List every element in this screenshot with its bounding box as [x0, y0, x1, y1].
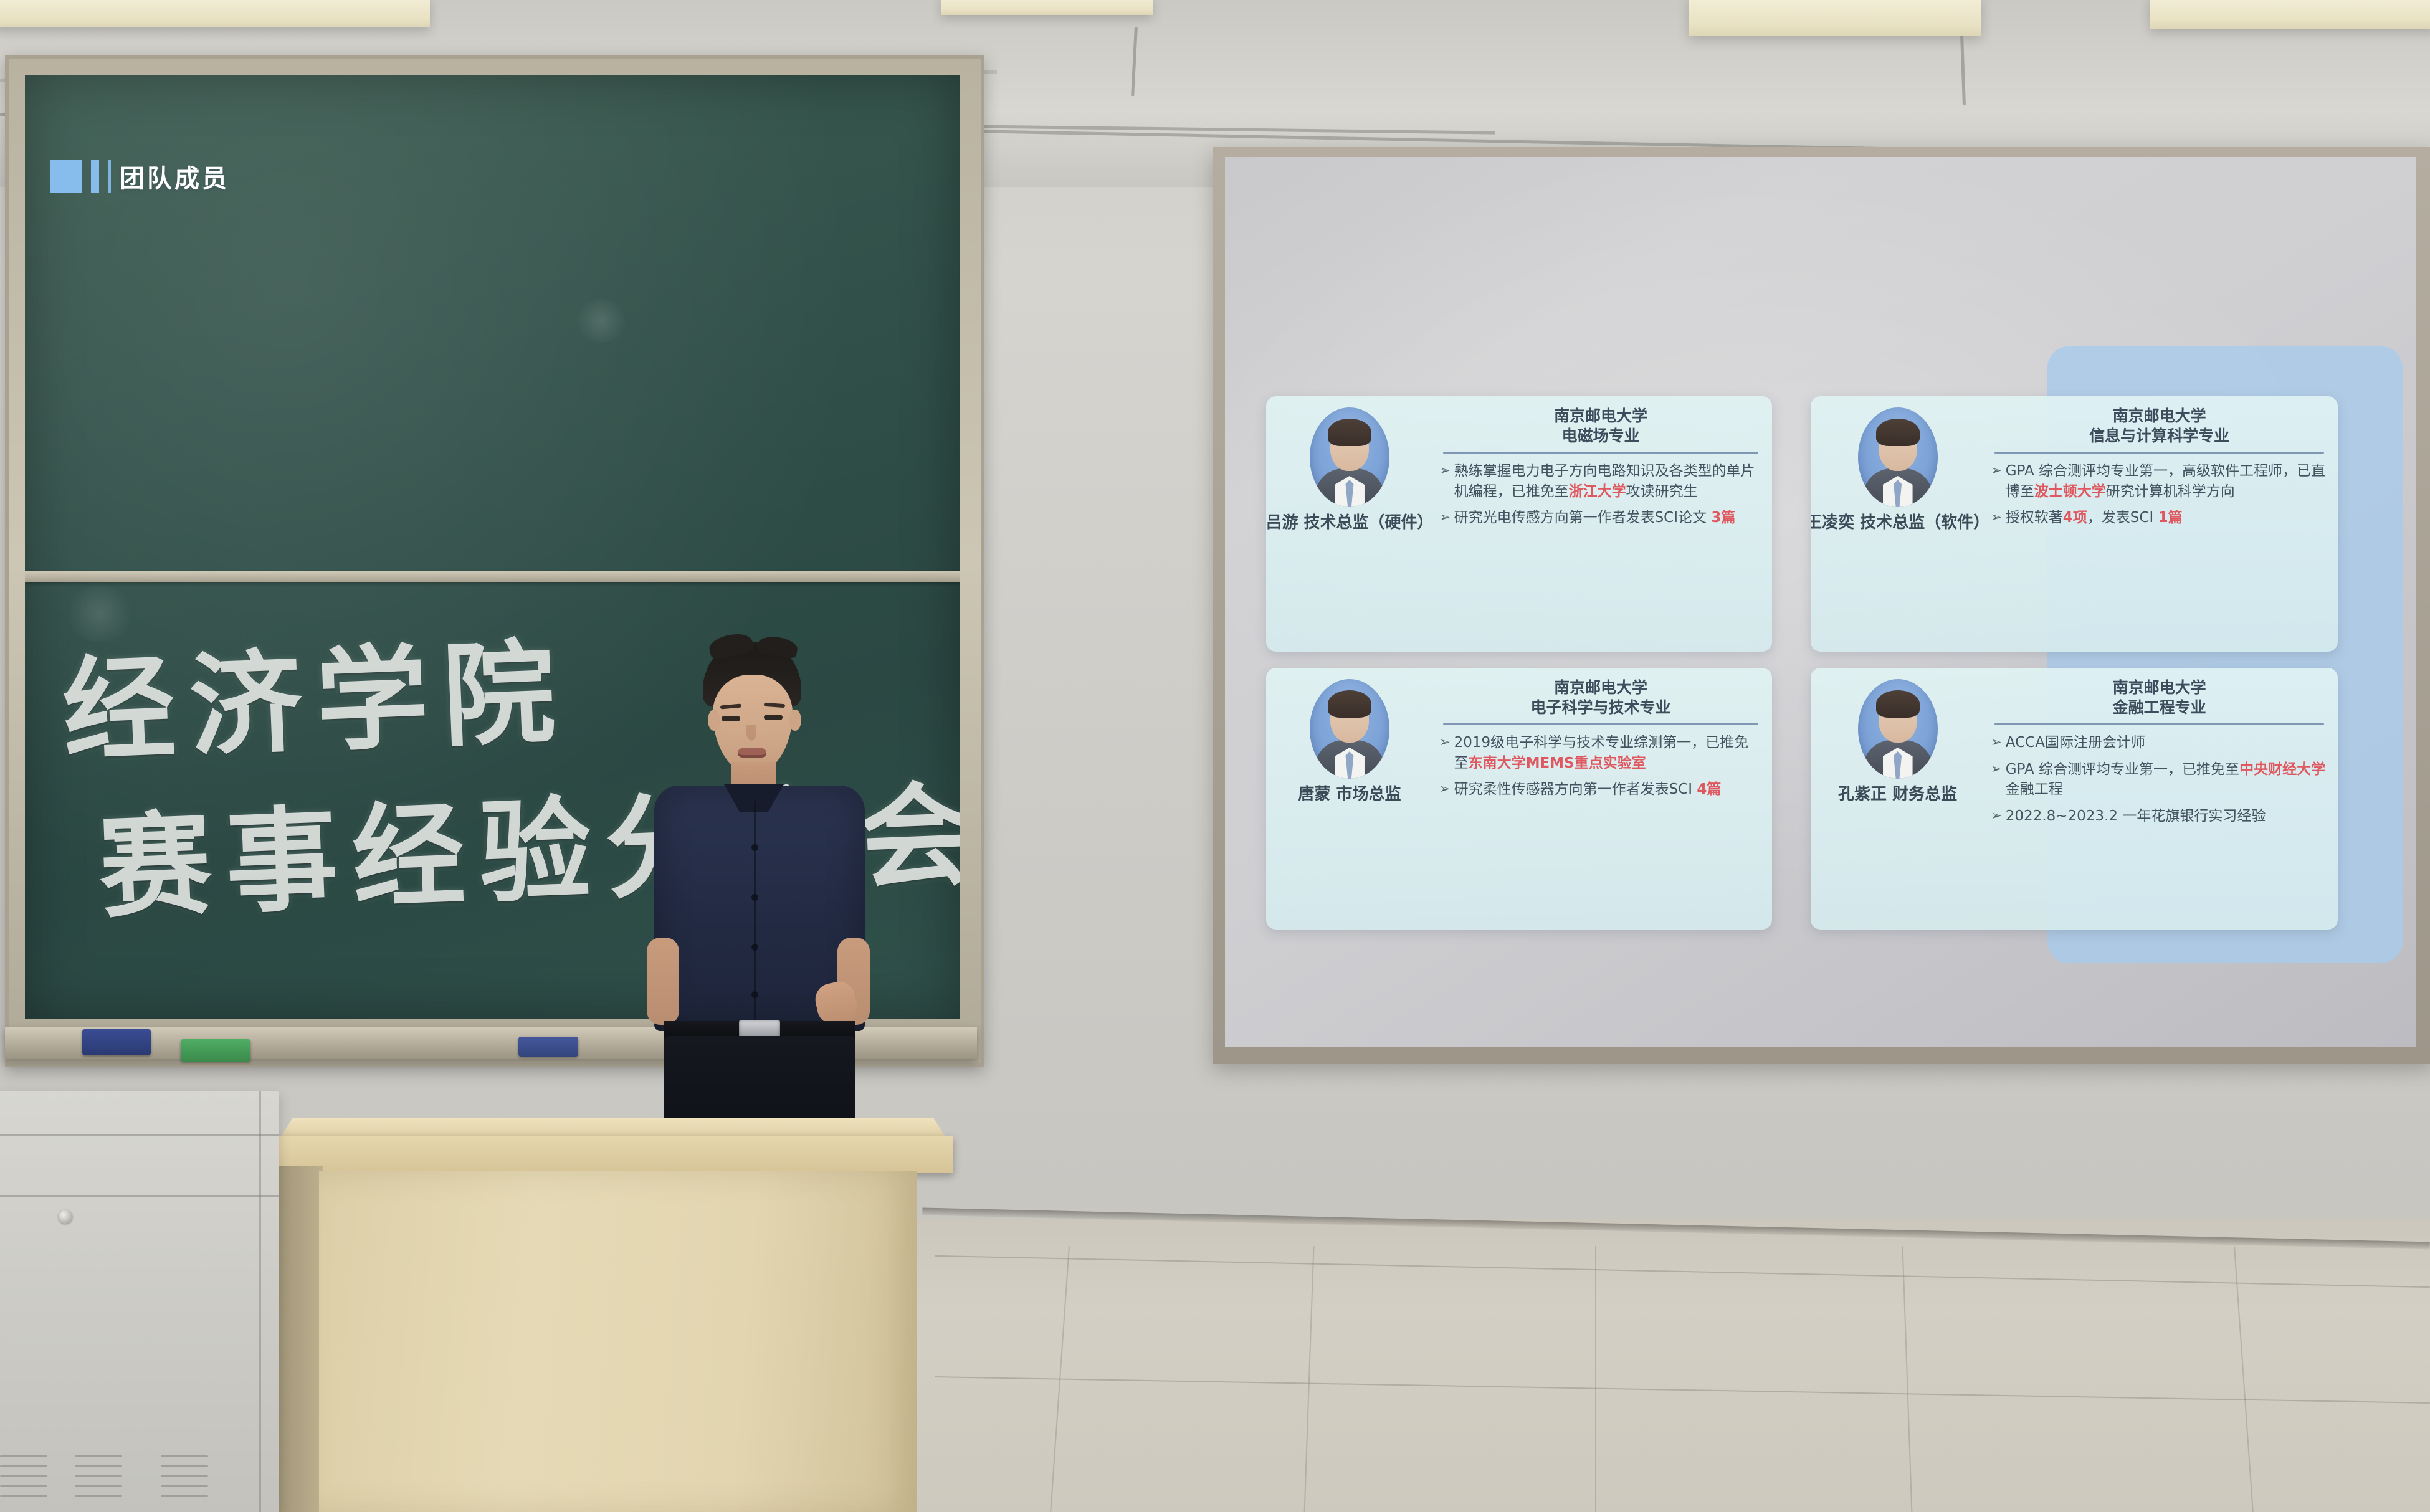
- bullet-highlight: 浙江大学: [1569, 483, 1626, 500]
- cabinet-lock-icon[interactable]: [59, 1210, 72, 1224]
- card-divider: [1443, 723, 1758, 725]
- blackboard-line-1: 经济学院: [59, 601, 572, 782]
- chalk-smudge: [573, 299, 629, 343]
- member-name-role: 孔紫正 财务总监: [1838, 785, 1957, 804]
- card-divider: [1994, 723, 2324, 725]
- member-bullet: ➢2019级电子科学与技术专业综测第一，已推免至东南大学MEMS重点实验室: [1439, 733, 1762, 773]
- cabinet-vent-louver: [0, 1455, 47, 1457]
- member-bullet: ➢研究光电传感方向第一作者发表SCI论文 3篇: [1439, 508, 1762, 528]
- bullet-run: 金融工程: [2006, 781, 2063, 797]
- cabinet-vent-louver: [75, 1455, 122, 1457]
- presenter-eye: [722, 716, 740, 721]
- member-school-major: 南京邮电大学信息与计算科学专业: [1991, 406, 2328, 446]
- cabinet-vent-louver: [75, 1485, 122, 1487]
- classroom-scene: 经济学院 赛事经验分享会 团队成员 吕游 技术总监（硬件）南京邮电大学电磁场专业…: [0, 0, 2430, 1512]
- cabinet-vent-louver: [75, 1495, 122, 1497]
- bullet-text: 授权软著4项，发表SCI 1篇: [2006, 508, 2183, 528]
- cabinet-seam: [0, 1134, 279, 1136]
- member-bullet: ➢授权软著4项，发表SCI 1篇: [1991, 508, 2328, 528]
- bullet-text: 熟练掌握电力电子方向电路知识及各类型的单片机编程，已推免至浙江大学攻读研究生: [1454, 461, 1762, 502]
- member-card-portrait-side: 王凌奕 技术总监（软件）: [1811, 396, 1984, 652]
- eraser-blue[interactable]: [518, 1037, 578, 1057]
- presenter: [629, 645, 891, 1121]
- card-divider: [1994, 452, 2324, 454]
- member-avatar: [1310, 679, 1389, 779]
- bullet-text: 2019级电子科学与技术专业综测第一，已推免至东南大学MEMS重点实验室: [1454, 733, 1762, 773]
- ceiling-light-panel: [1689, 0, 1981, 36]
- cabinet-vent-louver: [0, 1495, 47, 1497]
- member-avatar: [1858, 679, 1938, 779]
- member-bullet: ➢GPA 综合测评均专业第一，已推免至中央财经大学金融工程: [1991, 759, 2328, 800]
- bullet-highlight: 4项: [2063, 510, 2087, 526]
- member-card-details-side: 南京邮电大学金融工程专业➢ACCA国际注册会计师➢GPA 综合测评均专业第一，已…: [1984, 668, 2338, 930]
- metal-cabinet[interactable]: [0, 1091, 279, 1512]
- avatar-hair-shape: [1876, 690, 1920, 718]
- floor-grout-line: [1595, 1246, 1596, 1512]
- chalkboard-divider-rail: [25, 571, 960, 582]
- member-avatar: [1310, 407, 1389, 507]
- member-bullet: ➢2022.8~2023.2 一年花旗银行实习经验: [1991, 806, 2328, 827]
- bullet-run: 研究光电传感方向第一作者发表SCI论文: [1454, 510, 1712, 526]
- presenter-shirt-button: [751, 944, 758, 951]
- member-bullet: ➢熟练掌握电力电子方向电路知识及各类型的单片机编程，已推免至浙江大学攻读研究生: [1439, 461, 1762, 502]
- bullet-arrow-icon: ➢: [1439, 461, 1451, 481]
- slide-title: 团队成员: [120, 158, 229, 194]
- member-bullet: ➢ACCA国际注册会计师: [1991, 733, 2328, 753]
- bullet-arrow-icon: ➢: [1991, 508, 2002, 528]
- member-card-details-side: 南京邮电大学信息与计算科学专业➢GPA 综合测评均专业第一，高级软件工程师，已直…: [1984, 396, 2338, 652]
- cabinet-vent-louver: [75, 1475, 122, 1477]
- ceiling-light-panel: [941, 0, 1153, 15]
- bullet-arrow-icon: ➢: [1439, 733, 1451, 753]
- member-school-major: 南京邮电大学电磁场专业: [1439, 406, 1762, 446]
- bullet-run: 研究柔性传感器方向第一作者发表SCI: [1454, 781, 1697, 797]
- bullet-run: 研究计算机科学方向: [2106, 483, 2235, 500]
- cabinet-vent-louver: [161, 1455, 208, 1457]
- member-card[interactable]: 吕游 技术总监（硬件）南京邮电大学电磁场专业➢熟练掌握电力电子方向电路知识及各类…: [1266, 396, 1772, 652]
- avatar-hair-shape: [1328, 690, 1371, 718]
- bullet-run: GPA 综合测评均专业第一，已推免至: [2006, 761, 2239, 777]
- bullet-text: 2022.8~2023.2 一年花旗银行实习经验: [2006, 806, 2266, 827]
- bullet-text: GPA 综合测评均专业第一，已推免至中央财经大学金融工程: [2006, 759, 2328, 800]
- presenter-ear: [789, 710, 801, 731]
- cabinet-vent-louver: [75, 1465, 122, 1467]
- bullet-text: 研究柔性传感器方向第一作者发表SCI 4篇: [1454, 779, 1722, 800]
- presenter-shirt-placket: [754, 801, 756, 1022]
- presenter-ear: [708, 710, 720, 731]
- bullet-run: 2022.8~2023.2 一年花旗银行实习经验: [2006, 808, 2266, 824]
- presenter-nose: [746, 725, 756, 741]
- cabinet-vent-louver: [161, 1485, 208, 1487]
- member-bullet: ➢研究柔性传感器方向第一作者发表SCI 4篇: [1439, 779, 1762, 800]
- card-divider: [1443, 452, 1758, 454]
- podium-side-panel: [272, 1166, 323, 1512]
- chalk-smudge: [62, 586, 137, 642]
- member-card-portrait-side: 唐蒙 市场总监: [1266, 668, 1433, 930]
- presenter-trousers: [664, 1036, 855, 1123]
- bullet-highlight: 中央财经大学: [2239, 761, 2325, 777]
- member-card-portrait-side: 吕游 技术总监（硬件）: [1266, 396, 1433, 652]
- podium-top[interactable]: [273, 1136, 953, 1173]
- bullet-arrow-icon: ➢: [1991, 806, 2002, 826]
- bullet-text: GPA 综合测评均专业第一，高级软件工程师，已直博至波士顿大学研究计算机科学方向: [2006, 461, 2328, 502]
- bullet-run: ，发表SCI: [2087, 510, 2158, 526]
- member-avatar: [1858, 407, 1938, 507]
- bullet-arrow-icon: ➢: [1439, 779, 1451, 799]
- presenter-shirt-button: [751, 844, 758, 851]
- bullet-arrow-icon: ➢: [1991, 733, 2002, 753]
- bullet-highlight: 4篇: [1697, 781, 1721, 797]
- title-accent-block-icon: [50, 160, 82, 193]
- member-card[interactable]: 唐蒙 市场总监南京邮电大学电子科学与技术专业➢2019级电子科学与技术专业综测第…: [1266, 668, 1772, 930]
- ceiling-light-panel: [0, 0, 430, 27]
- member-card[interactable]: 王凌奕 技术总监（软件）南京邮电大学信息与计算科学专业➢GPA 综合测评均专业第…: [1811, 396, 2338, 652]
- bullet-text: 研究光电传感方向第一作者发表SCI论文 3篇: [1454, 508, 1736, 528]
- member-name-role: 唐蒙 市场总监: [1298, 785, 1401, 804]
- member-card-details-side: 南京邮电大学电子科学与技术专业➢2019级电子科学与技术专业综测第一，已推免至东…: [1433, 668, 1772, 930]
- presenter-shirt-button: [751, 894, 758, 901]
- bullet-arrow-icon: ➢: [1439, 508, 1451, 528]
- bullet-arrow-icon: ➢: [1991, 759, 2002, 779]
- podium-front-panel: [319, 1171, 917, 1512]
- member-card[interactable]: 孔紫正 财务总监南京邮电大学金融工程专业➢ACCA国际注册会计师➢GPA 综合测…: [1811, 668, 2338, 930]
- bullet-run: 攻读研究生: [1626, 483, 1698, 500]
- member-card-portrait-side: 孔紫正 财务总监: [1811, 668, 1984, 930]
- member-name-role: 王凌奕 技术总监（软件）: [1811, 513, 1989, 533]
- cabinet-vent-louver: [161, 1465, 208, 1467]
- avatar-hair-shape: [1328, 419, 1371, 446]
- presenter-eye: [764, 715, 783, 720]
- presenter-arm-left: [647, 938, 679, 1025]
- cabinet-vent-louver: [0, 1485, 47, 1487]
- member-card-details-side: 南京邮电大学电磁场专业➢熟练掌握电力电子方向电路知识及各类型的单片机编程，已推免…: [1433, 396, 1772, 652]
- title-accent-thin-bar-icon: [108, 160, 111, 193]
- bullet-run: 授权软著: [2006, 510, 2063, 526]
- presenter-shirt-button: [751, 991, 758, 998]
- member-school-major: 南京邮电大学电子科学与技术专业: [1439, 678, 1762, 718]
- bullet-highlight: 东南大学MEMS重点实验室: [1469, 755, 1646, 771]
- slide-title-row: 团队成员: [50, 158, 229, 194]
- cabinet-door-edge: [259, 1091, 261, 1512]
- bullet-highlight: 1篇: [2158, 510, 2183, 526]
- avatar-hair-shape: [1876, 419, 1920, 446]
- bullet-highlight: 波士顿大学: [2034, 483, 2106, 500]
- bullet-run: ACCA国际注册会计师: [2006, 735, 2145, 751]
- presenter-mouth: [738, 748, 766, 758]
- cabinet-vent-louver: [0, 1475, 47, 1477]
- cabinet-vent-louver: [161, 1495, 208, 1497]
- member-school-major: 南京邮电大学金融工程专业: [1991, 678, 2328, 718]
- eraser-green[interactable]: [181, 1039, 250, 1062]
- eraser-blue[interactable]: [82, 1029, 151, 1055]
- ceiling-light-panel: [2150, 0, 2430, 29]
- cabinet-vent-louver: [161, 1475, 208, 1477]
- title-accent-bar-icon: [91, 160, 99, 193]
- member-name-role: 吕游 技术总监（硬件）: [1266, 513, 1434, 533]
- cabinet-vent-louver: [0, 1465, 47, 1467]
- bullet-highlight: 3篇: [1711, 510, 1735, 526]
- bullet-text: ACCA国际注册会计师: [2006, 733, 2145, 753]
- cabinet-door-seam: [0, 1195, 279, 1197]
- member-bullet: ➢GPA 综合测评均专业第一，高级软件工程师，已直博至波士顿大学研究计算机科学方…: [1991, 461, 2328, 502]
- bullet-arrow-icon: ➢: [1991, 461, 2002, 481]
